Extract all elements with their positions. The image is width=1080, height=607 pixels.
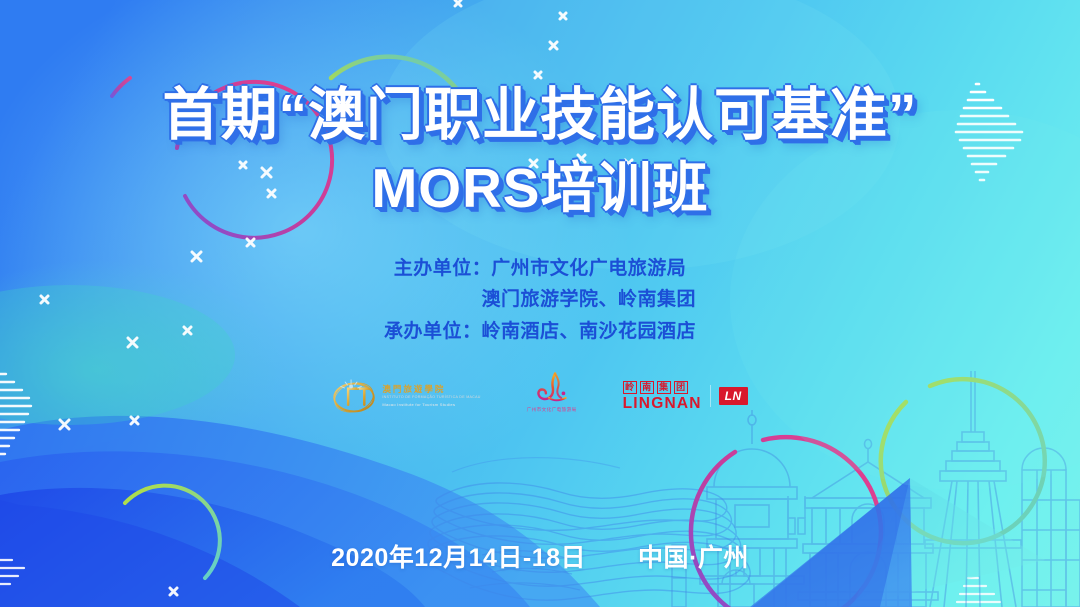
poster-content: 首期“澳门职业技能认可基准” MORS培训班 主办单位：广州市文化广电旅游局 澳… [0,0,1080,607]
lingnan-char-2: 南 [640,381,654,394]
lingnan-text-block: 岭 南 集 团 LINGNAN [623,381,702,412]
organizer-block: 主办单位：广州市文化广电旅游局 澳门旅游学院、岭南集团 承办单位：岭南酒店、南沙… [0,253,1080,347]
organizer-row-undertaker: 承办单位：岭南酒店、南沙花园酒店 [0,316,1080,347]
lingnan-badge-icon: LN [719,387,748,405]
poster-title: 首期“澳门职业技能认可基准” MORS培训班 [0,84,1080,219]
event-location: 中国·广州 [638,538,749,574]
logo-lingnan-group: 岭 南 集 团 LINGNAN LN [623,372,748,420]
poster-footer: 2020年12月14日-18日 中国·广州 [0,538,1080,574]
lingnan-divider [710,385,711,407]
lingnan-char-3: 集 [657,381,671,394]
guangzhou-ribbon-icon [532,372,572,404]
organizer-row-host: 主办单位：广州市文化广电旅游局 [0,253,1080,284]
event-date: 2020年12月14日-18日 [331,538,586,574]
guangzhou-bureau-name: 广州市文化广电旅游局 [527,407,577,413]
title-line-2: MORS培训班 [0,158,1080,220]
ift-monogram-icon [332,378,376,414]
lingnan-name-en: LINGNAN [623,396,702,412]
title-line-1: 首期“澳门职业技能认可基准” [0,84,1080,148]
sponsor-logo-row: 澳門旅遊學院 INSTITUTO DE FORMAÇÃO TURÍSTICA D… [0,372,1080,420]
organizer-row-host-2: 澳门旅游学院、岭南集团 [0,284,1080,315]
logo-guangzhou-culture-bureau: 广州市文化广电旅游局 [527,372,577,420]
ift-name-en: Macao Institute for Tourism Studies [382,403,480,407]
logo-macao-institute-for-tourism-studies: 澳門旅遊學院 INSTITUTO DE FORMAÇÃO TURÍSTICA D… [332,372,480,420]
ift-name-cn: 澳門旅遊學院 [382,385,480,394]
ift-logo-text: 澳門旅遊學院 INSTITUTO DE FORMAÇÃO TURÍSTICA D… [382,385,480,407]
lingnan-name-cn: 岭 南 集 团 [623,381,688,394]
lingnan-char-4: 团 [674,381,688,394]
poster-canvas: 首期“澳门职业技能认可基准” MORS培训班 主办单位：广州市文化广电旅游局 澳… [0,0,1080,607]
ift-name-pt: INSTITUTO DE FORMAÇÃO TURÍSTICA DE MACAU [382,396,480,400]
lingnan-char-1: 岭 [623,381,637,394]
